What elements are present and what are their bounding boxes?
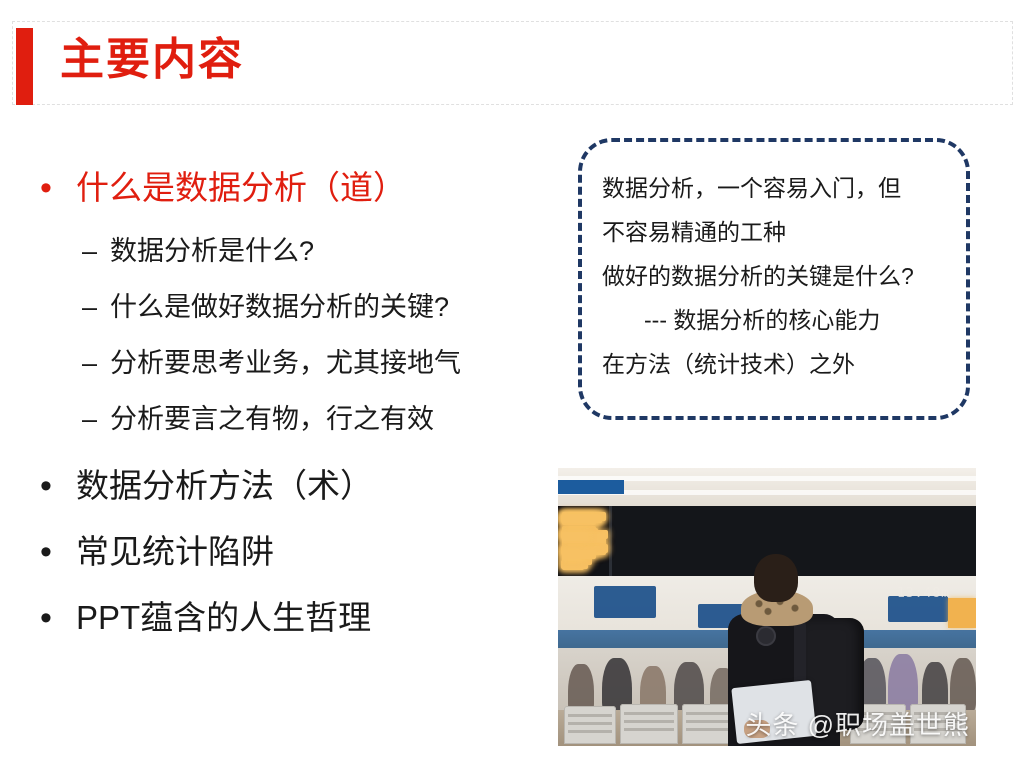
photo-man-head	[754, 554, 798, 602]
list-item-label: 什么是做好数据分析的关键?	[110, 282, 449, 332]
dashed-callout-box: 数据分析，一个容易入门，但 不容易精通的工种 做好的数据分析的关键是什么? --…	[578, 138, 970, 420]
list-item: – 分析要言之有物，行之有效	[40, 394, 540, 444]
callout-line: 不容易精通的工种	[602, 210, 956, 254]
callout-line: 数据分析，一个容易入门，但	[602, 166, 956, 210]
list-item-label: PPT蕴含的人生哲理	[76, 590, 371, 646]
bullet-marker-icon: •	[40, 458, 76, 514]
slide-canvas: 主要内容 • 什么是数据分析（道） – 数据分析是什么? – 什么是做好数据分析…	[0, 0, 1024, 768]
list-item: • 常见统计陷阱	[40, 524, 540, 580]
bullet-marker-icon: •	[40, 524, 76, 580]
callout-text-block: 数据分析，一个容易入门，但 不容易精通的工种 做好的数据分析的关键是什么? --…	[602, 166, 956, 386]
list-item: – 分析要思考业务，尤其接地气	[40, 338, 540, 388]
station-photo: 13:48m 头条 @职场盖世熊	[558, 468, 976, 746]
photo-watermark: 头条 @职场盖世熊	[745, 705, 970, 742]
list-item-label: 数据分析方法（术）	[76, 458, 373, 514]
bullet-dash-icon: –	[82, 282, 110, 332]
bullet-marker-icon: •	[40, 160, 76, 216]
list-item-label: 数据分析是什么?	[110, 226, 314, 276]
photo-clock: 13:48m	[897, 586, 950, 601]
list-item: • 数据分析方法（术）	[40, 458, 540, 514]
page-title: 主要内容	[60, 28, 244, 92]
list-item: • PPT蕴含的人生哲理	[40, 590, 540, 646]
list-item: – 数据分析是什么?	[40, 226, 540, 276]
list-item: • 什么是数据分析（道）	[40, 160, 540, 216]
photo-seat	[564, 706, 616, 744]
photo-seat	[620, 704, 678, 744]
title-accent-bar	[16, 28, 33, 105]
list-item-label: 常见统计陷阱	[76, 524, 274, 580]
list-item-label: 什么是数据分析（道）	[76, 160, 406, 216]
callout-line: --- 数据分析的核心能力	[602, 298, 956, 342]
photo-info-sign	[594, 586, 656, 618]
list-item-label: 分析要思考业务，尤其接地气	[110, 338, 461, 388]
callout-line: 在方法（统计技术）之外	[602, 342, 956, 386]
list-item-label: 分析要言之有物，行之有效	[110, 394, 434, 444]
bullet-dash-icon: –	[82, 226, 110, 276]
photo-coat-badge	[756, 626, 776, 646]
content-bullet-list: • 什么是数据分析（道） – 数据分析是什么? – 什么是做好数据分析的关键? …	[40, 160, 540, 656]
photo-blue-corner-sign	[558, 480, 624, 494]
bullet-dash-icon: –	[82, 394, 110, 444]
bullet-dash-icon: –	[82, 338, 110, 388]
list-item: – 什么是做好数据分析的关键?	[40, 282, 540, 332]
bullet-marker-icon: •	[40, 590, 76, 646]
photo-amber-panel	[948, 598, 976, 628]
callout-line: 做好的数据分析的关键是什么?	[602, 254, 956, 298]
